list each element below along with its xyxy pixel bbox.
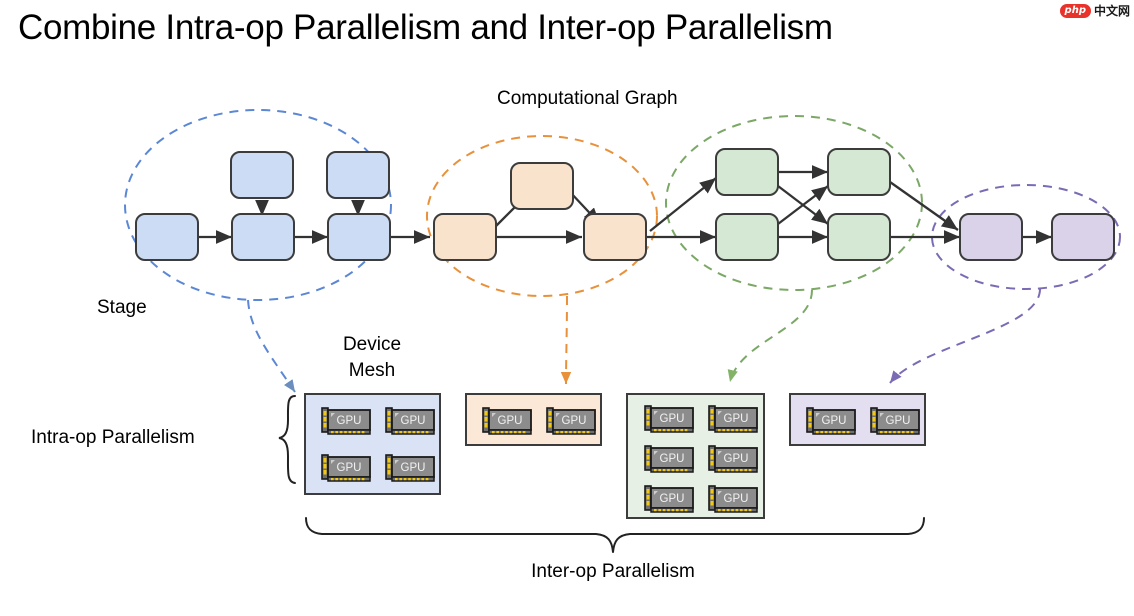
gpu-icon [645, 486, 693, 512]
connector-blue [248, 300, 295, 392]
gpu-icon [645, 406, 693, 432]
gpu-icon [645, 446, 693, 472]
gpu-icon [322, 408, 370, 434]
connector-green [730, 290, 812, 382]
gpu-icon [709, 406, 757, 432]
stage-ellipse-green [666, 116, 922, 290]
gpu-icon [322, 455, 370, 481]
gpu-icon [709, 446, 757, 472]
diagram-canvas: php 中文网 Combine Intra-op Parallelism and… [0, 0, 1134, 616]
label-device-mesh-line1: Device [330, 334, 414, 356]
stage-ellipse-blue [125, 110, 391, 300]
label-device-mesh-line2: Mesh [330, 360, 414, 382]
gpu-icons [322, 406, 919, 512]
gpu-icon [386, 408, 434, 434]
gpu-icon [547, 408, 595, 434]
gpu-icon [709, 486, 757, 512]
gpu-icon [871, 408, 919, 434]
graph-node [434, 163, 646, 260]
label-intra-op-parallelism: Intra-op Parallelism [31, 427, 195, 449]
connector-purple [890, 289, 1040, 383]
gpu-icon [807, 408, 855, 434]
gpu-icon [483, 408, 531, 434]
brace-intra-op [279, 396, 295, 483]
label-stage: Stage [97, 297, 147, 319]
gpu-icon [386, 455, 434, 481]
brace-inter-op [306, 518, 924, 552]
label-computational-graph: Computational Graph [497, 88, 678, 110]
connector-orange [566, 296, 567, 384]
label-inter-op-parallelism: Inter-op Parallelism [513, 561, 713, 583]
